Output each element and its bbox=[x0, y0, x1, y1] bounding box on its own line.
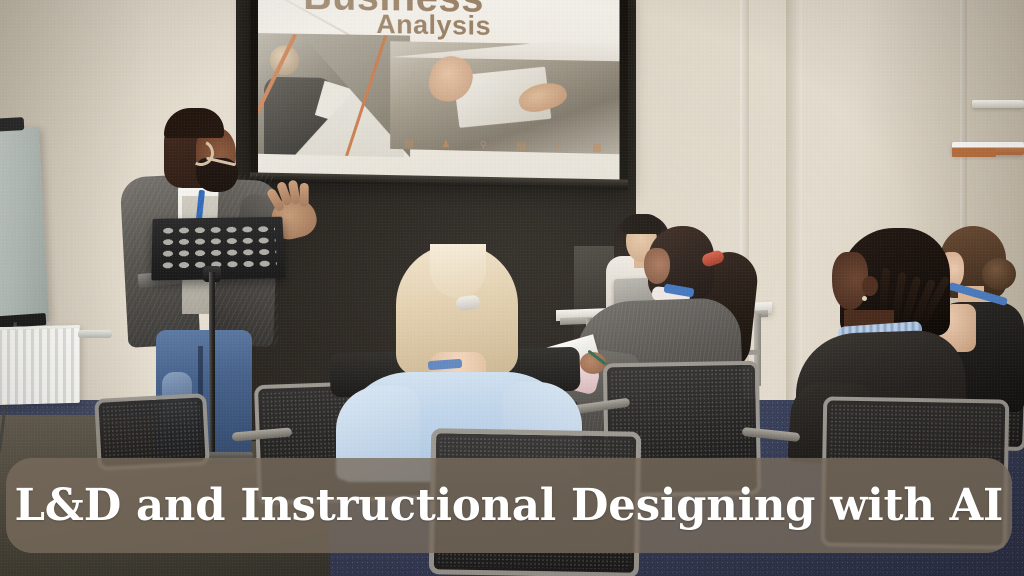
training-room-photo: Business Analysis ▤ ♟ ⚲ ▤ ғ ▦ bbox=[0, 0, 1024, 576]
document-icon: ▤ bbox=[404, 138, 413, 149]
person-icon: ♟ bbox=[441, 139, 450, 150]
attendee-at-laptop-fringe bbox=[622, 214, 662, 234]
radiator-valve bbox=[78, 330, 112, 338]
attendee-dreadlocks-ear bbox=[862, 276, 878, 296]
title-banner: L&D and Instructional Designing with AI bbox=[6, 458, 1012, 553]
attendee-blonde-hair-part bbox=[430, 244, 486, 298]
wall-rail bbox=[972, 100, 1024, 108]
radiator bbox=[0, 325, 80, 405]
flipchart-clip bbox=[0, 117, 24, 132]
attendee-notetaker-face bbox=[644, 248, 670, 284]
chart-icon: ▤ bbox=[516, 140, 525, 151]
grid-icon: ▦ bbox=[592, 142, 601, 153]
lectern-pole bbox=[209, 272, 215, 462]
page-title: L&D and Instructional Designing with AI bbox=[15, 484, 1004, 528]
wall-sign-accent bbox=[952, 148, 996, 157]
earring bbox=[862, 296, 867, 301]
projection-screen-surface: Business Analysis ▤ ♟ ⚲ ▤ ғ ▦ bbox=[258, 0, 620, 183]
finger bbox=[300, 183, 309, 207]
lightbulb-icon: ғ bbox=[554, 141, 563, 152]
attendee-bun-knot bbox=[982, 258, 1016, 290]
magnifier-icon: ⚲ bbox=[479, 139, 488, 150]
